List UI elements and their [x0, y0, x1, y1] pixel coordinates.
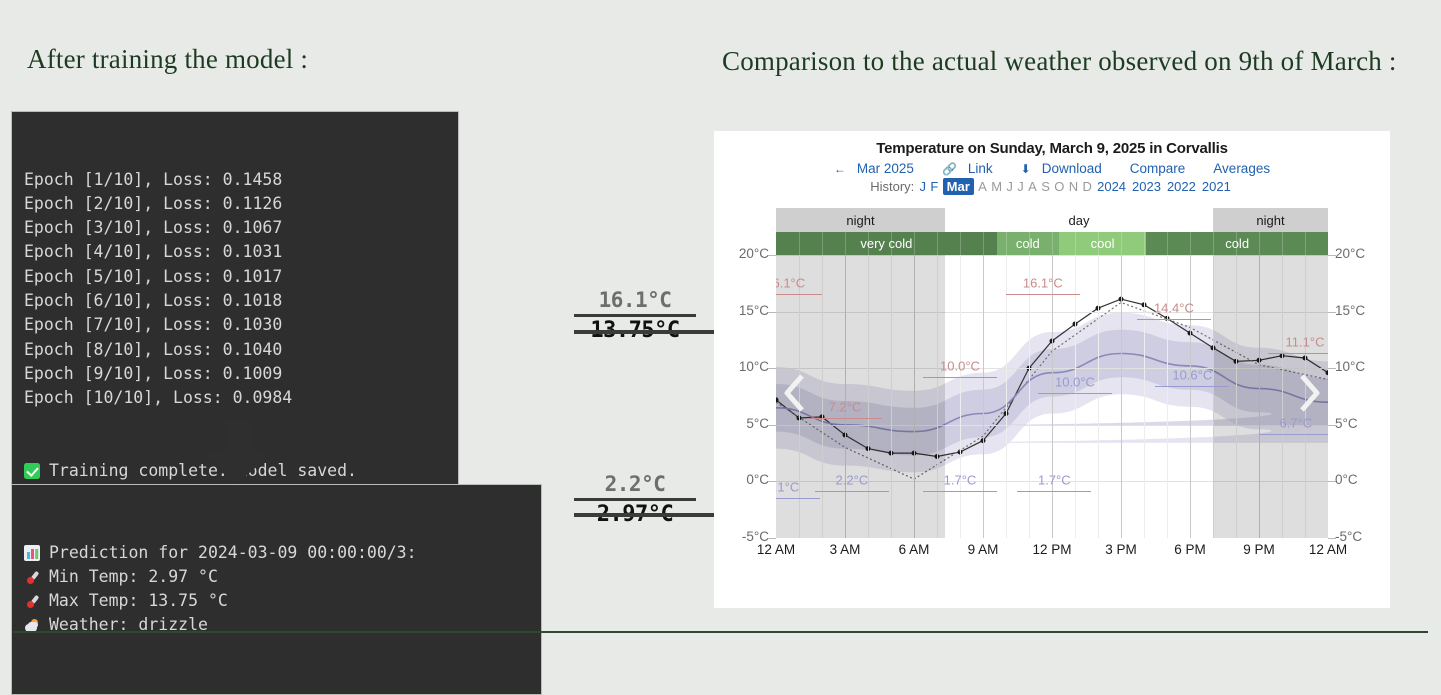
history-label: History: [870, 179, 914, 194]
comfort-tick [1075, 232, 1076, 255]
comfort-label: cold [1225, 236, 1249, 251]
annotation-range-bar [923, 491, 997, 492]
temp-annotation: 14.4°C [1154, 301, 1194, 316]
log-line: Epoch [10/10], Loss: 0.0984 [24, 386, 448, 410]
history-month-a: A [1028, 179, 1037, 194]
comfort-tick [1167, 232, 1168, 255]
x-axis-label: 9 PM [1243, 542, 1275, 557]
history-month-mar[interactable]: Mar [943, 178, 974, 195]
widget-title: Temperature on Sunday, March 9, 2025 in … [714, 131, 1390, 157]
y-axis-tick [768, 368, 776, 369]
comfort-tick [1006, 232, 1007, 255]
comfort-tick [937, 232, 938, 255]
temp-annotation: 16.1°C [776, 276, 805, 291]
day-night-band: nightdaynight [776, 208, 1328, 232]
gridline-vertical [1144, 255, 1145, 538]
temp-annotation: 1.1°C [776, 480, 799, 495]
y-axis-label: 5°C [746, 416, 769, 431]
gridline-vertical [1121, 255, 1122, 538]
temp-annotation: 6.7°C [1279, 415, 1312, 430]
comfort-tick [1190, 232, 1191, 255]
chevron-right-icon[interactable] [1296, 373, 1322, 413]
x-axis-label: 9 AM [968, 542, 999, 557]
log-line: Epoch [9/10], Loss: 0.1009 [24, 362, 448, 386]
min-temp-callout: 2.2°C 2.97°C [574, 472, 696, 527]
log-line: Epoch [7/10], Loss: 0.1030 [24, 313, 448, 337]
history-month-n: N [1069, 179, 1078, 194]
history-month-f[interactable]: F [930, 179, 938, 194]
gridline-vertical [1098, 255, 1099, 538]
prediction-output-terminal: Prediction for 2024-03-09 00:00:00/3:Min… [11, 484, 542, 695]
history-year-2023[interactable]: 2023 [1132, 179, 1161, 194]
arrow-left-icon: ← [834, 162, 846, 176]
y-axis-tick [768, 425, 776, 426]
annotation-range-bar [1259, 434, 1328, 435]
comfort-tick [960, 232, 961, 255]
temp-annotation: 16.1°C [1023, 276, 1063, 291]
bottom-divider [13, 631, 1428, 633]
log-line: Epoch [6/10], Loss: 0.1018 [24, 289, 448, 313]
nav-compare[interactable]: Compare [1123, 161, 1193, 176]
annotation-range-bar [1268, 353, 1328, 354]
log-line: Epoch [3/10], Loss: 0.1067 [24, 216, 448, 240]
nav-link[interactable]: 🔗Link [935, 161, 1000, 176]
y-axis-label: 15°C [739, 303, 769, 318]
nav-averages[interactable]: Averages [1206, 161, 1277, 176]
prediction-text: Prediction for 2024-03-09 00:00:00/3: [49, 541, 417, 565]
comfort-tick [799, 232, 800, 255]
history-month-s: S [1041, 179, 1050, 194]
history-year-2022[interactable]: 2022 [1167, 179, 1196, 194]
comfort-label: very cold [860, 236, 912, 251]
nav-label: Download [1042, 161, 1102, 176]
comfort-band: very coldcoldcoolcold [776, 232, 1328, 255]
prediction-row: Weather: drizzle [24, 613, 531, 637]
history-year-2021[interactable]: 2021 [1202, 179, 1231, 194]
history-month-d: D [1083, 179, 1092, 194]
y-axis-label: 15°C [1335, 303, 1365, 318]
check-mark-button-icon [24, 463, 40, 479]
temp-annotation: 10.0°C [940, 358, 980, 373]
temp-annotation: 2.2°C [836, 473, 869, 488]
comfort-tick [1121, 232, 1122, 255]
comfort-label: cool [1091, 236, 1115, 251]
band-label: night [1256, 213, 1284, 228]
weather-widget: Temperature on Sunday, March 9, 2025 in … [714, 131, 1390, 608]
gridline-vertical [1006, 255, 1007, 538]
history-month-j: J [1017, 179, 1024, 194]
prediction-text: Min Temp: 2.97 °C [49, 565, 218, 589]
temp-annotation: 1.7°C [1038, 473, 1071, 488]
x-axis-label: 6 PM [1174, 542, 1206, 557]
chevron-left-icon[interactable] [782, 373, 808, 413]
x-axis-label: 12 AM [757, 542, 795, 557]
nav-download[interactable]: ⬇Download [1014, 161, 1109, 176]
y-axis-label: 20°C [1335, 246, 1365, 261]
callout-rule-min [574, 498, 696, 501]
temp-annotation: 10.0°C [1055, 374, 1095, 389]
annotation-range-bar [776, 294, 822, 295]
comfort-tick [983, 232, 984, 255]
history-month-m: M [991, 179, 1002, 194]
annotation-range-bar [1006, 294, 1080, 295]
temp-annotation: 7.2°C [829, 399, 862, 414]
comfort-tick [914, 232, 915, 255]
log-line: Epoch [4/10], Loss: 0.1031 [24, 240, 448, 264]
prediction-row: Max Temp: 13.75 °C [24, 589, 531, 613]
annotation-range-bar [808, 418, 882, 419]
annotation-range-bar [1038, 393, 1112, 394]
prediction-text: Max Temp: 13.75 °C [49, 589, 228, 613]
history-month-a: A [978, 179, 987, 194]
band-night: night [1213, 208, 1328, 232]
max-temp-callout: 16.1°C 13.75°C [574, 288, 696, 343]
comfort-tick [1213, 232, 1214, 255]
download-icon: ⬇ [1021, 162, 1031, 176]
comfort-cool: cool [1059, 232, 1146, 255]
comfort-tick [845, 232, 846, 255]
chart-plot-area: 16.1°C16.1°C14.4°C11.1°C10.0°C7.2°C10.6°… [776, 255, 1328, 538]
y-axis-label: 0°C [746, 472, 769, 487]
y-axis-tick [768, 538, 776, 539]
temp-annotation: 10.6°C [1172, 367, 1212, 382]
left-heading: After training the model : [27, 44, 308, 75]
band-label: night [846, 213, 874, 228]
log-line: Epoch [5/10], Loss: 0.1017 [24, 265, 448, 289]
gridline-vertical [1075, 255, 1076, 538]
log-line: Epoch [8/10], Loss: 0.1040 [24, 338, 448, 362]
temp-annotation: 1.7°C [944, 473, 977, 488]
gridline-vertical [1190, 255, 1191, 538]
x-axis-label: 12 PM [1032, 542, 1071, 557]
x-axis-label: 3 AM [830, 542, 861, 557]
annotation-range-bar [1155, 386, 1229, 387]
annotation-range-bar [923, 377, 997, 378]
temperature-chart: nightdaynight very coldcoldcoolcold 16.1… [776, 208, 1328, 598]
bar-chart-icon [24, 545, 40, 561]
prediction-row: Prediction for 2024-03-09 00:00:00/3: [24, 541, 531, 565]
y-axis-label: 5°C [1335, 416, 1358, 431]
nav-label: Link [968, 161, 993, 176]
nav-label: Mar 2025 [857, 161, 914, 176]
link-icon: 🔗 [942, 162, 957, 176]
comfort-tick [1052, 232, 1053, 255]
thermometer-icon [24, 569, 40, 585]
nav-label: Averages [1213, 161, 1270, 176]
callout-rule-max [574, 314, 696, 317]
annotation-range-bar [776, 498, 820, 499]
comfort-tick [1144, 232, 1145, 255]
y-axis-label: 20°C [739, 246, 769, 261]
gridline-vertical [960, 255, 961, 538]
gridline-vertical [1167, 255, 1168, 538]
temp-annotation: 11.1°C [1286, 335, 1325, 350]
right-heading: Comparison to the actual weather observe… [722, 44, 1422, 78]
band-day: day [945, 208, 1213, 232]
y-axis-tick [768, 312, 776, 313]
y-axis-tick [768, 481, 776, 482]
comfort-tick [822, 232, 823, 255]
prediction-text: Weather: drizzle [49, 613, 208, 637]
comfort-tick [1259, 232, 1260, 255]
y-axis-tick [768, 255, 776, 256]
down-arrow-icon [201, 421, 275, 483]
widget-nav: ←Mar 2025🔗Link⬇DownloadCompareAverages [714, 161, 1390, 176]
x-axis-label: 3 PM [1105, 542, 1137, 557]
annotation-range-bar [815, 491, 889, 492]
prediction-row: Min Temp: 2.97 °C [24, 565, 531, 589]
comfort-tick [1282, 232, 1283, 255]
y-axis-label: 10°C [739, 359, 769, 374]
nav-label: Compare [1130, 161, 1186, 176]
comfort-very-cold: very cold [776, 232, 997, 255]
history-year-2024[interactable]: 2024 [1097, 179, 1126, 194]
band-night: night [776, 208, 945, 232]
log-line: Epoch [1/10], Loss: 0.1458 [24, 168, 448, 192]
history-month-j[interactable]: J [919, 179, 926, 194]
gridline-vertical [1029, 255, 1030, 538]
thermometer-icon [24, 593, 40, 609]
y-axis-label: 10°C [1335, 359, 1365, 374]
min-observed-value: 2.2°C [574, 472, 696, 496]
annotation-range-bar [1137, 319, 1211, 320]
gridline-vertical [1052, 255, 1053, 538]
log-line: Epoch [2/10], Loss: 0.1126 [24, 192, 448, 216]
widget-history-nav: History:JFMarAMJJASOND2024202320222021 [714, 179, 1390, 194]
nav-mar-2025[interactable]: ←Mar 2025 [827, 161, 921, 176]
band-label: day [1069, 213, 1090, 228]
history-month-o: O [1054, 179, 1064, 194]
max-observed-value: 16.1°C [574, 288, 696, 312]
history-month-j: J [1006, 179, 1013, 194]
annotation-range-bar [1017, 491, 1091, 492]
x-axis-label: 12 AM [1309, 542, 1347, 557]
comfort-cold: cold [1146, 232, 1328, 255]
y-axis-label: 0°C [1335, 472, 1358, 487]
x-axis-label: 6 AM [899, 542, 930, 557]
comfort-label: cold [1016, 236, 1040, 251]
comfort-tick [1305, 232, 1306, 255]
gridline-vertical [983, 255, 984, 538]
